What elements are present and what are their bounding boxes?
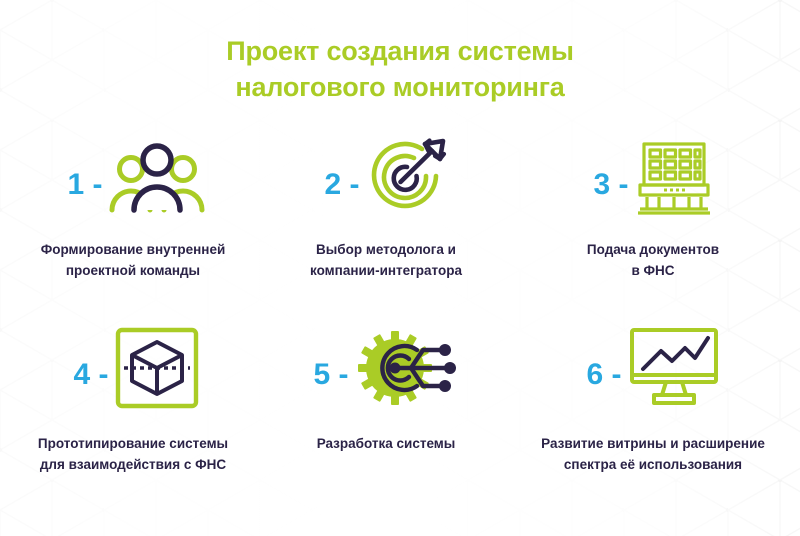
step-6-caption: Развитие витрины и расширение спектра её… (529, 434, 777, 476)
step-item-2: 2 - (266, 132, 506, 322)
step-item-1: 1 - Формирование внутренней пр (0, 132, 266, 322)
step-1-number: 1 - (67, 170, 102, 200)
step-2-caption: Выбор методолога и компании-интегратора (298, 240, 474, 282)
step-item-5: 5 - (266, 322, 506, 512)
step-3-caption: Подача документов в ФНС (575, 240, 731, 282)
cube-prototype-icon (115, 327, 199, 409)
step-4-number: 4 - (73, 360, 108, 390)
step-1-caption: Формирование внутренней проектной команд… (29, 240, 238, 282)
government-building-icon (635, 141, 713, 215)
step-5-head: 5 - (313, 322, 458, 414)
step-item-4: 4 - Прототипирование системы для взаимод… (0, 322, 266, 512)
page-title: Проект создания системы налогового монит… (0, 34, 800, 106)
step-item-6: 6 - Развитие витрины и расширение (506, 322, 800, 512)
step-4-head: 4 - (67, 322, 198, 414)
gear-circuit-icon (355, 328, 459, 408)
step-5-number: 5 - (313, 360, 348, 390)
target-arrow-icon (366, 138, 448, 218)
page-title-text: Проект создания системы налогового монит… (0, 34, 800, 106)
step-3-head: 3 - (593, 132, 712, 224)
step-item-3: 3 - (506, 132, 800, 322)
step-2-number: 2 - (324, 170, 359, 200)
step-5-caption: Разработка системы (305, 434, 468, 455)
step-3-number: 3 - (593, 170, 628, 200)
step-1-head: 1 - (61, 132, 204, 224)
step-4-caption: Прототипирование системы для взаимодейст… (26, 434, 240, 476)
steps-grid: 1 - Формирование внутренней пр (0, 132, 800, 512)
step-6-number: 6 - (586, 360, 621, 390)
step-6-head: 6 - (586, 322, 719, 414)
monitor-chart-icon (628, 327, 720, 409)
step-2-head: 2 - (324, 132, 447, 224)
team-people-icon (109, 140, 205, 216)
infographic-poster: Проект создания системы налогового монит… (0, 0, 800, 536)
